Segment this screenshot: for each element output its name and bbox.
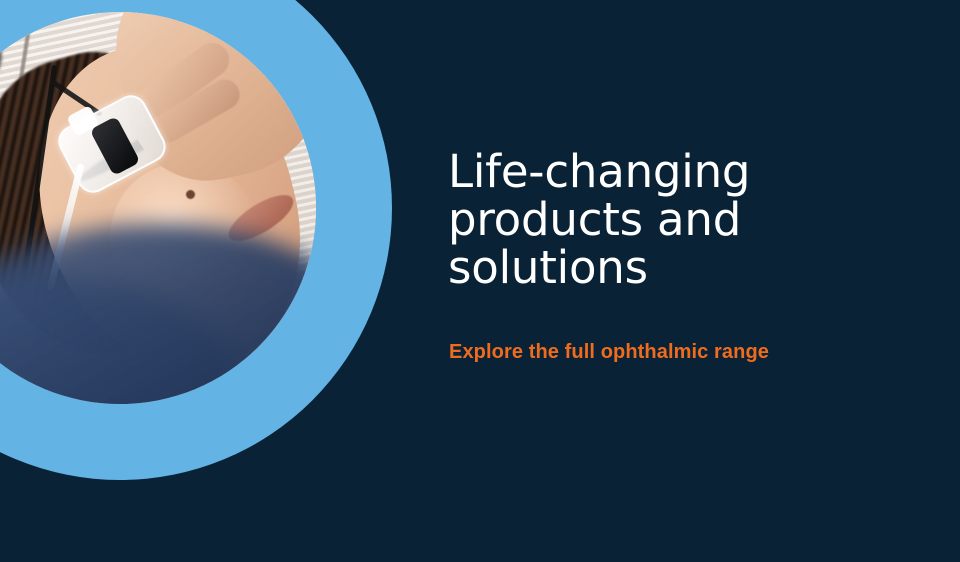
ophthalmic-procedure-photo [0, 12, 316, 404]
page-title: Life-changing products and solutions [448, 148, 868, 292]
explore-ophthalmic-range-link[interactable]: Explore the full ophthalmic range [449, 340, 769, 364]
hero-banner: Life-changing products and solutions Exp… [0, 0, 960, 562]
photo-cheek-mole [186, 190, 195, 199]
hero-cta-container: Explore the full ophthalmic range [449, 340, 769, 364]
hero-copy-block: Life-changing products and solutions [448, 148, 868, 292]
hero-media-circle [0, 0, 440, 562]
